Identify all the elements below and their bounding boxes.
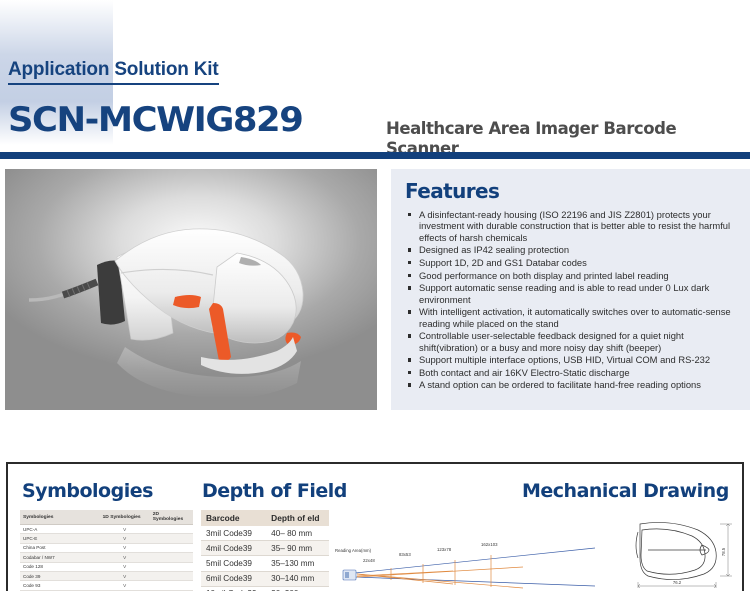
symbology-name: Code 128: [20, 562, 100, 571]
depth-of-field-title: Depth of Field: [202, 480, 347, 502]
feature-item: Support automatic sense reading and is a…: [407, 282, 740, 305]
symbology-2d-mark: [150, 562, 193, 571]
table-row: Code 93V: [20, 581, 193, 590]
symbology-2d-mark: [150, 525, 193, 534]
reading-area-diagram: Reading Area(mm) 22x48 83x53 123x78 162x…: [333, 540, 603, 591]
dof-barcode: 4mil Code39: [201, 541, 266, 556]
feature-item: A stand option can be ordered to facilit…: [407, 379, 740, 390]
feature-item: Support 1D, 2D and GS1 Databar codes: [407, 257, 740, 268]
symbology-name: Code 39: [20, 571, 100, 580]
reading-area-value-2: 123x78: [437, 547, 452, 552]
symbology-1d-mark: V: [100, 581, 150, 590]
dof-depth: 40– 80 mm: [266, 526, 329, 541]
datasheet-page: Application Solution Kit SCN-MCWIG829 He…: [0, 0, 750, 591]
symbology-1d-mark: V: [100, 553, 150, 562]
dof-col-depth: Depth of eld: [266, 510, 329, 526]
dof-barcode: 6mil Code39: [201, 571, 266, 586]
reading-area-label: Reading Area(mm): [335, 548, 372, 553]
feature-item: Good performance on both display and pri…: [407, 270, 740, 281]
symbologies-col-2d: 2D Symbologies: [150, 510, 193, 525]
dof-header-row: Barcode Depth of eld: [201, 510, 329, 526]
features-panel: Features A disinfectant-ready housing (I…: [391, 169, 750, 410]
dof-barcode: 10mil Code39: [201, 586, 266, 591]
table-row: 10mil Code3930–200 mm: [201, 586, 329, 591]
features-title: Features: [405, 179, 750, 203]
symbology-1d-mark: V: [100, 571, 150, 580]
feature-item: Controllable user-selectable feedback de…: [407, 330, 740, 353]
table-row: UPC-EV: [20, 534, 193, 543]
mech-dim-width: 76.2: [673, 580, 682, 585]
table-row: China PostV: [20, 543, 193, 552]
symbology-1d-mark: V: [100, 562, 150, 571]
table-row: UPC-AV: [20, 525, 193, 534]
table-row: 3mil Code3940– 80 mm: [201, 526, 329, 541]
table-row: 6mil Code3930–140 mm: [201, 571, 329, 586]
reading-area-value-3: 162x103: [481, 542, 498, 547]
dof-col-barcode: Barcode: [201, 510, 266, 526]
table-row: 5mil Code3935–130 mm: [201, 556, 329, 571]
symbology-name: Code 93: [20, 581, 100, 590]
feature-item: With intelligent activation, it automati…: [407, 306, 740, 329]
depth-of-field-table: Barcode Depth of eld 3mil Code3940– 80 m…: [201, 510, 329, 591]
symbology-name: UPC-A: [20, 525, 100, 534]
symbologies-title: Symbologies: [22, 480, 153, 502]
reading-area-value-1: 83x53: [399, 552, 411, 557]
symbology-2d-mark: [150, 581, 193, 590]
feature-item: Both contact and air 16KV Electro-Static…: [407, 367, 740, 378]
feature-item: Support multiple interface options, USB …: [407, 354, 740, 365]
symbology-name: UPC-E: [20, 534, 100, 543]
dof-depth: 35– 90 mm: [266, 541, 329, 556]
symbologies-table: Symbologies 1D Symbologies 2D Symbologie…: [20, 510, 193, 591]
dof-barcode: 5mil Code39: [201, 556, 266, 571]
dof-depth: 35–130 mm: [266, 556, 329, 571]
symbology-2d-mark: [150, 571, 193, 580]
feature-item: Designed as IP42 sealing protection: [407, 244, 740, 255]
reading-area-value-0: 22x48: [363, 558, 375, 563]
symbology-2d-mark: [150, 543, 193, 552]
product-photo: [5, 169, 377, 410]
symbologies-col-1d: 1D Symbologies: [100, 510, 150, 525]
kicker-text: Application Solution Kit: [8, 58, 219, 85]
mechanical-drawing-diagram: 78.5 76.2: [628, 512, 746, 591]
dof-depth: 30–200 mm: [266, 586, 329, 591]
symbologies-col-name: Symbologies: [20, 510, 100, 525]
features-list: A disinfectant-ready housing (ISO 22196 …: [407, 209, 740, 391]
feature-item: A disinfectant-ready housing (ISO 22196 …: [407, 209, 740, 243]
product-model-title: SCN-MCWIG829: [8, 100, 302, 140]
header-divider-bar: [0, 152, 750, 159]
symbology-1d-mark: V: [100, 534, 150, 543]
symbology-2d-mark: [150, 553, 193, 562]
table-row: Code 39V: [20, 571, 193, 580]
symbology-2d-mark: [150, 534, 193, 543]
symbology-name: Codabar / NW7: [20, 553, 100, 562]
mech-dim-height: 78.5: [721, 547, 726, 556]
table-row: Codabar / NW7V: [20, 553, 193, 562]
symbology-1d-mark: V: [100, 525, 150, 534]
symbology-1d-mark: V: [100, 543, 150, 552]
dof-depth: 30–140 mm: [266, 571, 329, 586]
mechanical-drawing-title: Mechanical Drawing: [522, 480, 729, 502]
table-row: 4mil Code3935– 90 mm: [201, 541, 329, 556]
table-row: Code 128V: [20, 562, 193, 571]
symbologies-header-row: Symbologies 1D Symbologies 2D Symbologie…: [20, 510, 193, 525]
dof-barcode: 3mil Code39: [201, 526, 266, 541]
symbology-name: China Post: [20, 543, 100, 552]
